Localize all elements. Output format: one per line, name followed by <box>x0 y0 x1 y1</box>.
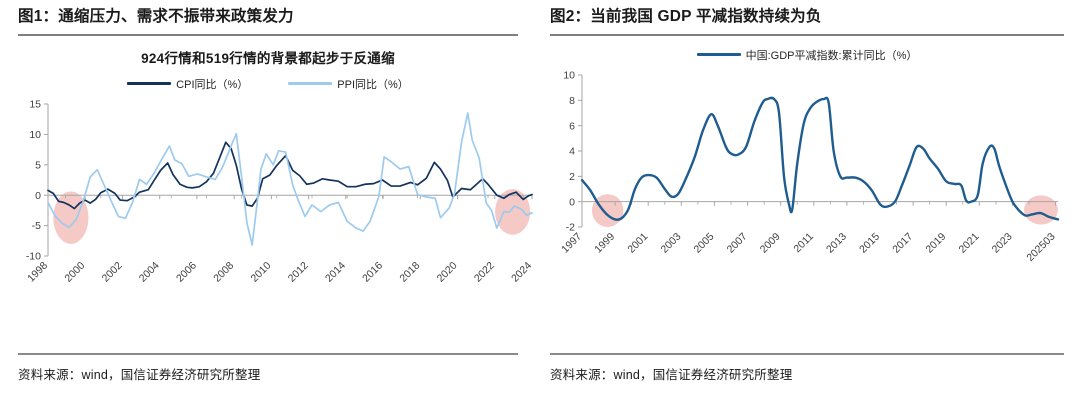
y-tick-label: -5 <box>32 220 41 232</box>
x-tick-label: 2013 <box>824 230 849 255</box>
figure-2-divider <box>550 34 1064 36</box>
x-tick-label: 2002 <box>100 259 125 284</box>
x-tick-label: 2014 <box>323 259 348 284</box>
x-tick-label: 1998 <box>25 259 50 284</box>
y-tick-label: 15 <box>29 98 41 110</box>
legend-swatch-gdp-deflator <box>697 53 741 56</box>
figure-1-source: 资料来源：wind，国信证券经济研究所整理 <box>0 353 540 383</box>
x-tick-label: 2024 <box>509 259 534 284</box>
legend-label-ppi: PPI同比（%） <box>337 76 409 92</box>
legend-item-ppi: PPI同比（%） <box>288 76 409 92</box>
x-tick-label: 2007 <box>725 230 750 255</box>
figure-2-source: 资料来源：wind，国信证券经济研究所整理 <box>540 353 1080 383</box>
figure-1-source-divider <box>18 353 518 355</box>
x-tick-label: 2003 <box>658 230 683 255</box>
x-tick-label: 1999 <box>592 230 617 255</box>
x-tick-label: 2005 <box>692 230 717 255</box>
x-tick-label: 2017 <box>890 230 915 255</box>
x-tick-label: 2018 <box>397 259 422 284</box>
x-tick-label: 2020 <box>435 259 460 284</box>
chart-2-plot-area: 1086420-21997199920012003200520072009201… <box>550 67 1064 273</box>
highlight-ellipse-2 <box>1024 195 1058 224</box>
legend-item-gdp-deflator: 中国:GDP平减指数:累计同比（%） <box>697 47 918 63</box>
chart-1-legend: CPI同比（%） PPI同比（%） <box>18 76 518 92</box>
x-tick-label: 2019 <box>923 230 948 255</box>
x-tick-label: 2021 <box>956 230 981 255</box>
x-tick-label: 2022 <box>472 259 497 284</box>
x-tick-label: 2010 <box>249 259 274 284</box>
legend-label-gdp-deflator: 中国:GDP平减指数:累计同比（%） <box>746 47 918 63</box>
chart-1-svg: 151050-5-1019982000200220042006200820102… <box>18 96 538 296</box>
y-tick-label: 4 <box>569 145 575 157</box>
chart-2-legend: 中国:GDP平减指数:累计同比（%） <box>550 47 1064 63</box>
x-tick-label: 2009 <box>758 230 783 255</box>
chart-2: 中国:GDP平减指数:累计同比（%） 1086420-2199719992001… <box>550 47 1064 332</box>
x-tick-label: 2006 <box>174 259 199 284</box>
chart-2-svg: 1086420-21997199920012003200520072009201… <box>550 67 1064 273</box>
y-tick-label: 0 <box>569 196 575 208</box>
x-tick-label: 2000 <box>62 259 87 284</box>
y-tick-label: 10 <box>29 129 41 141</box>
x-tick-label: 202503 <box>1024 230 1057 263</box>
x-tick-label: 2004 <box>137 259 162 284</box>
chart-1-plot-area: 151050-5-1019982000200220042006200820102… <box>18 96 518 296</box>
legend-label-cpi: CPI同比（%） <box>176 76 248 92</box>
figure-page: 图1：通缩压力、需求不振带来政策发力 924行情和519行情的背景都起步于反通缩… <box>0 0 1080 405</box>
figure-1-source-text: 资料来源：wind，国信证券经济研究所整理 <box>18 364 518 383</box>
x-tick-label: 2001 <box>625 230 650 255</box>
x-tick-label: 1997 <box>559 230 584 255</box>
figure-panel-1: 图1：通缩压力、需求不振带来政策发力 924行情和519行情的背景都起步于反通缩… <box>0 0 540 405</box>
y-tick-label: 2 <box>569 171 575 183</box>
y-tick-label: -10 <box>26 250 41 262</box>
figure-2-source-divider <box>550 353 1064 355</box>
figure-2-source-text: 资料来源：wind，国信证券经济研究所整理 <box>550 364 1064 383</box>
legend-item-cpi: CPI同比（%） <box>127 76 248 92</box>
legend-swatch-cpi <box>127 82 171 85</box>
x-tick-label: 2011 <box>791 230 816 255</box>
x-tick-label: 2012 <box>286 259 311 284</box>
x-tick-label: 2015 <box>857 230 882 255</box>
x-tick-label: 2023 <box>990 230 1015 255</box>
series-line-2 <box>48 113 532 245</box>
figure-panel-2: 图2：当前我国 GDP 平减指数持续为负 中国:GDP平减指数:累计同比（%） … <box>540 0 1080 405</box>
figure-2-title: 图2：当前我国 GDP 平减指数持续为负 <box>550 0 1064 27</box>
chart-1-title: 924行情和519行情的背景都起步于反通缩 <box>18 47 518 67</box>
y-tick-label: 6 <box>569 120 575 132</box>
y-tick-label: 10 <box>563 69 575 81</box>
y-tick-label: 5 <box>35 159 41 171</box>
legend-swatch-ppi <box>288 82 332 85</box>
y-tick-label: 8 <box>569 95 575 107</box>
x-tick-label: 2016 <box>360 259 385 284</box>
figure-1-title: 图1：通缩压力、需求不振带来政策发力 <box>18 0 518 27</box>
chart-1: 924行情和519行情的背景都起步于反通缩 CPI同比（%） PPI同比（%） … <box>18 47 518 332</box>
y-tick-label: 0 <box>35 189 41 201</box>
x-tick-label: 2008 <box>211 259 236 284</box>
figure-1-divider <box>18 34 518 36</box>
